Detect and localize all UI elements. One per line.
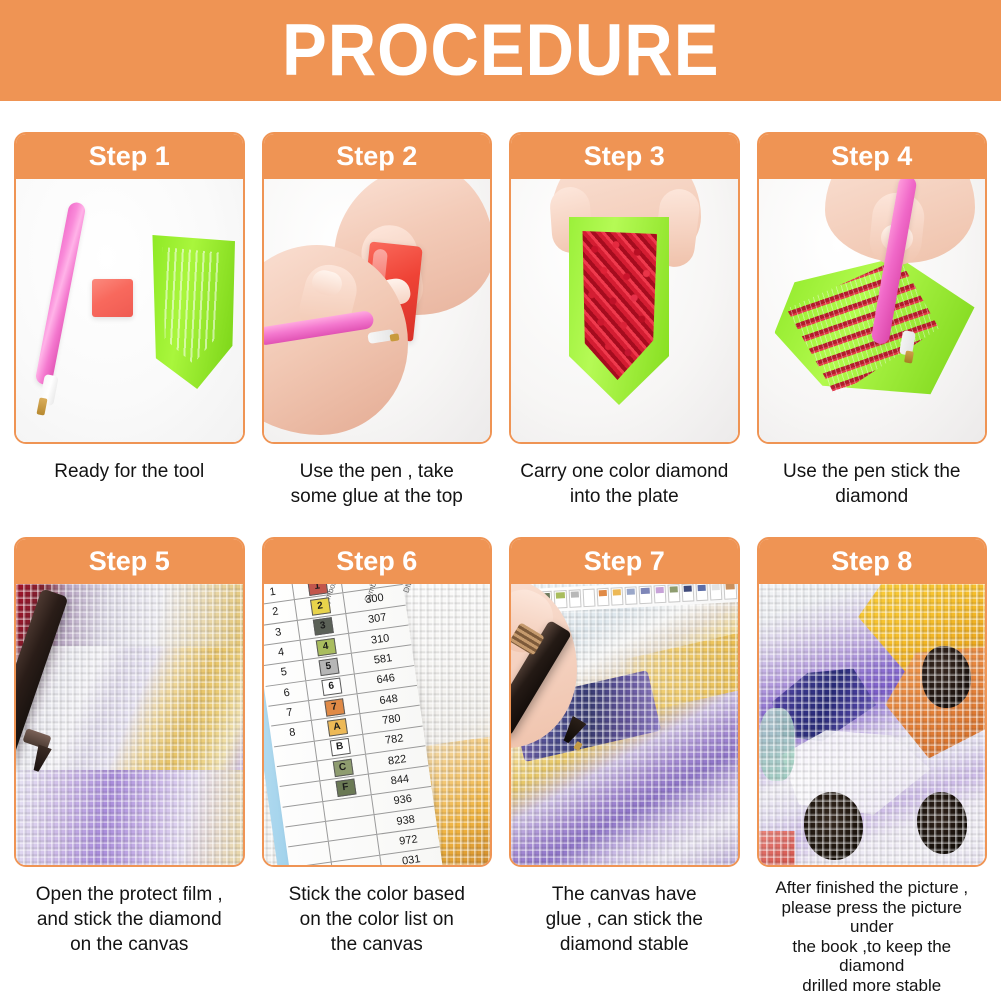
chart-symbol-swatch: C [332, 759, 353, 777]
step-image-5 [16, 584, 243, 865]
step-header-4: Step 4 [759, 134, 986, 179]
step-card-6[interactable]: Step 6 Symbol Symbol DMC 112230033307443… [262, 537, 493, 867]
step-caption-3: Carry one color diamond into the plate [509, 459, 740, 509]
legend-swatch [681, 584, 694, 602]
step-cell-6: Step 6 Symbol Symbol DMC 112230033307443… [262, 537, 493, 995]
step-caption-8: After finished the picture , please pres… [757, 878, 988, 995]
step-card-4[interactable]: Step 4 [757, 132, 988, 444]
step-label-5: Step 5 [89, 548, 170, 575]
step-card-5[interactable]: Step 5 [14, 537, 245, 867]
pouring-diamonds-into-tray-photo [511, 179, 738, 442]
chart-symbol-swatch: F [334, 779, 355, 797]
step-label-2: Step 2 [336, 143, 417, 170]
steps-row-bottom: Step 5 Open the protect film , and stick… [0, 537, 1001, 995]
sticking-diamonds-on-canvas-photo [16, 584, 243, 865]
legend-swatch [582, 589, 595, 608]
step-header-7: Step 7 [511, 539, 738, 584]
step-image-8 [759, 584, 986, 865]
step-card-3[interactable]: Step 3 [509, 132, 740, 444]
step-caption-6: Stick the color based on the color list … [262, 882, 493, 957]
step-image-1 [16, 179, 243, 442]
legend-swatch [611, 587, 624, 606]
pen-picking-diamond-photo [759, 179, 986, 442]
chart-symbol-swatch: 3 [312, 618, 333, 636]
pen-nib-shape [36, 397, 47, 415]
step-header-2: Step 2 [264, 134, 491, 179]
pen-picking-up-glue-photo [264, 179, 491, 442]
page-title: PROCEDURE [282, 14, 719, 87]
glue-square-shape [92, 279, 133, 317]
step-cell-7: Step 7 The canvas have glue , c [509, 537, 740, 995]
chart-symbol-swatch: A [326, 718, 347, 736]
step-image-4 [759, 179, 986, 442]
legend-swatch [667, 584, 680, 603]
step-header-8: Step 8 [759, 539, 986, 584]
step-card-7[interactable]: Step 7 [509, 537, 740, 867]
canvas-with-glue-photo [511, 584, 738, 865]
chart-symbol-swatch: 1 [306, 584, 327, 596]
step-image-3 [511, 179, 738, 442]
legend-swatch [695, 584, 708, 601]
step-image-2 [264, 179, 491, 442]
step-label-8: Step 8 [831, 548, 912, 575]
chart-symbol-swatch: 7 [323, 698, 344, 716]
step-caption-2: Use the pen , take some glue at the top [262, 459, 493, 509]
step-label-7: Step 7 [584, 548, 665, 575]
page-header-banner: PROCEDURE [0, 0, 1001, 101]
chart-symbol-swatch: 4 [315, 638, 336, 656]
legend-swatch [653, 585, 666, 604]
legend-swatch [724, 584, 737, 600]
step-cell-3: Step 3 Carry one color diamond into the … [509, 132, 740, 509]
step-image-6: Symbol Symbol DMC 1122300333074431055581… [264, 584, 491, 865]
pen-nib-shape [389, 333, 399, 341]
legend-swatch [625, 586, 638, 605]
step-cell-4: Step 4 Use the pen stick the diamond [757, 132, 988, 509]
step-label-4: Step 4 [831, 143, 912, 170]
chart-symbol-swatch: 6 [320, 678, 341, 696]
step-label-1: Step 1 [89, 143, 170, 170]
step-caption-5: Open the protect film , and stick the di… [14, 882, 245, 957]
step-header-6: Step 6 [264, 539, 491, 584]
step-card-8[interactable]: Step 8 [757, 537, 988, 867]
chart-cell-dmc: 031 [380, 851, 441, 866]
legend-swatch [568, 589, 581, 608]
step-cell-8: Step 8 After finished the pictu [757, 537, 988, 995]
finished-diamond-painting-photo [759, 584, 986, 865]
pink-pen-shape [35, 201, 87, 386]
step-label-6: Step 6 [336, 548, 417, 575]
chart-symbol-swatch: 5 [318, 658, 339, 676]
steps-row-top: Step 1 Ready for the tool Step 2 [0, 132, 1001, 509]
step-cell-1: Step 1 Ready for the tool [14, 132, 245, 509]
step-header-1: Step 1 [16, 134, 243, 179]
step-cell-5: Step 5 Open the protect film , and stick… [14, 537, 245, 995]
step-caption-1: Ready for the tool [14, 459, 245, 484]
step-header-5: Step 5 [16, 539, 243, 584]
step-caption-7: The canvas have glue , can stick the dia… [509, 882, 740, 957]
legend-swatch [710, 584, 723, 600]
step-card-2[interactable]: Step 2 [262, 132, 493, 444]
step-header-3: Step 3 [511, 134, 738, 179]
legend-swatch [639, 586, 652, 605]
pen-nib-shape [904, 350, 914, 363]
chart-symbol-swatch: 2 [309, 597, 330, 615]
legend-swatch [597, 588, 610, 607]
step-label-3: Step 3 [584, 143, 665, 170]
color-chart-legend-photo: Symbol Symbol DMC 1122300333074431055581… [264, 584, 491, 865]
step-cell-2: Step 2 Use the pen , take some [262, 132, 493, 509]
step-card-1[interactable]: Step 1 [14, 132, 245, 444]
chart-symbol-swatch: B [329, 738, 350, 756]
diamond-painting-tool-kit-photo [16, 179, 243, 442]
step-caption-4: Use the pen stick the diamond [757, 459, 988, 509]
step-image-7 [511, 584, 738, 865]
diamond-bead-texture [759, 584, 986, 865]
